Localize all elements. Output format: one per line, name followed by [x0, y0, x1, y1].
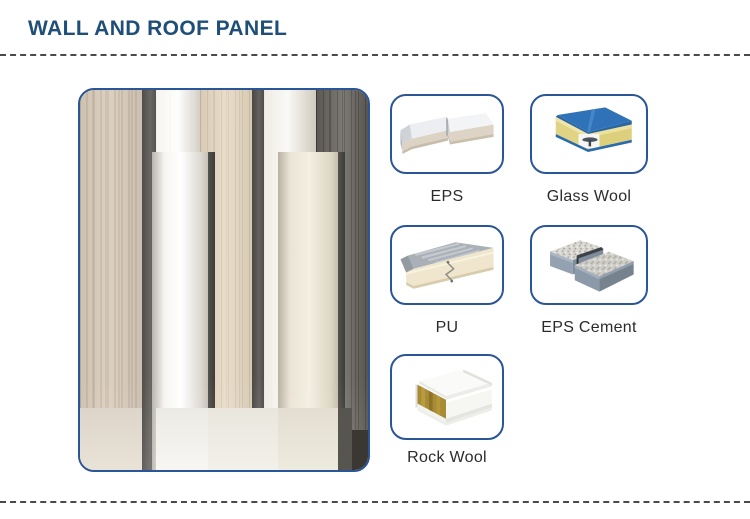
eps-cement-panel-image: [532, 227, 646, 303]
rock-wool-panel-image: [392, 356, 502, 438]
product-card-eps-cement[interactable]: [530, 225, 648, 305]
product-label-eps-cement: EPS Cement: [541, 319, 636, 337]
dark-groove: [252, 90, 264, 470]
divider-top: [0, 54, 750, 56]
foreground-panel-beige: [278, 152, 338, 470]
product-label-pu: PU: [436, 319, 459, 337]
product-label-eps: EPS: [431, 188, 464, 206]
glass-wool-panel-image: [532, 96, 646, 172]
hero-product-image[interactable]: [78, 88, 370, 472]
product-card-rock-wool[interactable]: [390, 354, 504, 440]
product-card-pu[interactable]: [390, 225, 504, 305]
eps-panel-image: [392, 96, 502, 172]
divider-bottom: [0, 501, 750, 503]
product-card-eps[interactable]: [390, 94, 504, 174]
card-frame: [390, 354, 504, 440]
pu-panel-image: [392, 227, 502, 303]
card-frame: [390, 94, 504, 174]
product-card-glass-wool[interactable]: [530, 94, 648, 174]
page-title: WALL AND ROOF PANEL: [28, 17, 287, 41]
foreground-panel-white: [152, 152, 208, 470]
card-frame: [530, 94, 648, 174]
product-label-rock-wool: Rock Wool: [407, 449, 487, 467]
wood-slat: [80, 90, 142, 470]
card-frame: [390, 225, 504, 305]
product-label-glass-wool: Glass Wool: [547, 188, 632, 206]
card-frame: [530, 225, 648, 305]
